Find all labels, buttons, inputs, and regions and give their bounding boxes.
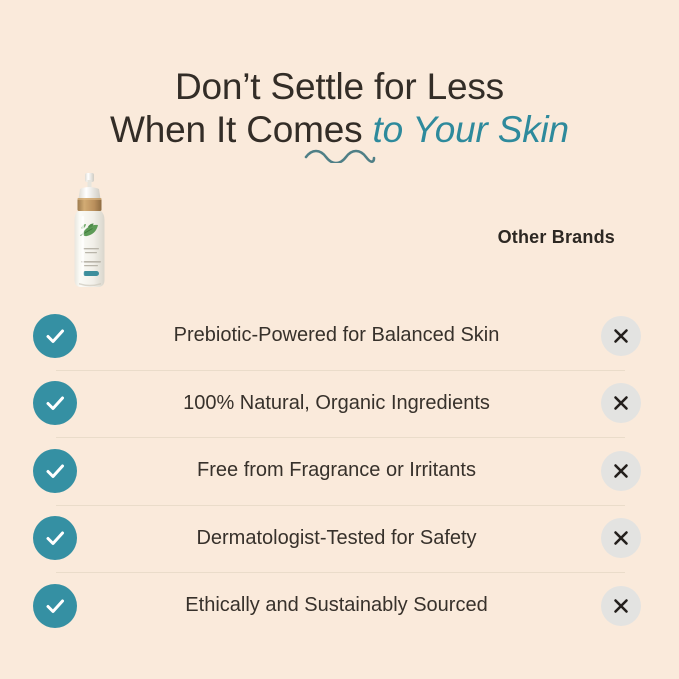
table-row: Prebiotic-Powered for Balanced Skin <box>0 302 679 370</box>
cell-ours <box>0 381 110 425</box>
feature-label: Free from Fragrance or Irritants <box>110 459 563 482</box>
comparison-table: Prebiotic-Powered for Balanced Skin 100%… <box>0 302 679 640</box>
comparison-infographic: Don’t Settle for Less When It Comes to Y… <box>0 0 679 679</box>
table-row: Ethically and Sustainably Sourced <box>0 572 679 640</box>
cross-icon <box>601 518 641 558</box>
cross-icon <box>601 451 641 491</box>
table-row: Free from Fragrance or Irritants <box>0 437 679 505</box>
cross-icon <box>601 586 641 626</box>
feature-label: Ethically and Sustainably Sourced <box>110 594 563 617</box>
feature-label: Dermatologist-Tested for Safety <box>110 527 563 550</box>
cell-other <box>563 383 679 423</box>
feature-label: 100% Natural, Organic Ingredients <box>110 392 563 415</box>
cell-ours <box>0 516 110 560</box>
table-row: Dermatologist-Tested for Safety <box>0 505 679 573</box>
wavy-line-icon <box>0 147 679 171</box>
check-icon <box>33 449 77 493</box>
cell-other <box>563 518 679 558</box>
cross-icon <box>601 383 641 423</box>
cell-other <box>563 316 679 356</box>
check-icon <box>33 584 77 628</box>
cross-icon <box>601 316 641 356</box>
headline-line-2: When It Comes to Your Skin <box>0 108 679 152</box>
product-bottle-image <box>60 172 120 290</box>
column-header-other-brands: Other Brands <box>380 227 615 248</box>
cell-ours <box>0 449 110 493</box>
headline-line-1: Don’t Settle for Less <box>0 65 679 109</box>
cell-other <box>563 451 679 491</box>
cell-ours <box>0 314 110 358</box>
check-icon <box>33 314 77 358</box>
page-title: Don’t Settle for Less When It Comes to Y… <box>0 65 679 152</box>
feature-label: Prebiotic-Powered for Balanced Skin <box>110 324 563 347</box>
headline-accent: to Your Skin <box>373 109 569 150</box>
check-icon <box>33 516 77 560</box>
cell-other <box>563 586 679 626</box>
table-row: 100% Natural, Organic Ingredients <box>0 370 679 438</box>
cell-ours <box>0 584 110 628</box>
headline-line-2-plain: When It Comes <box>110 109 372 150</box>
check-icon <box>33 381 77 425</box>
